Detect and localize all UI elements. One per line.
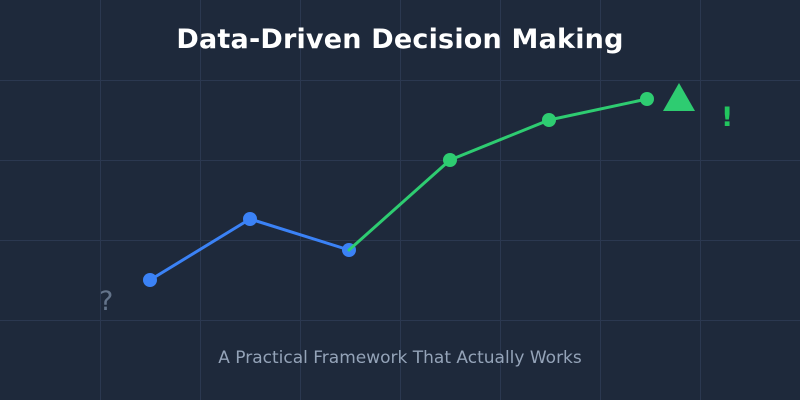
page-title: Data-Driven Decision Making bbox=[0, 24, 800, 55]
page-subtitle: A Practical Framework That Actually Work… bbox=[0, 348, 800, 368]
question-mark-icon: ? bbox=[99, 288, 113, 315]
series-after-line bbox=[349, 99, 647, 250]
series-before-line bbox=[150, 219, 349, 280]
up-triangle-icon bbox=[663, 83, 695, 111]
data-point[interactable] bbox=[640, 92, 654, 106]
line-chart bbox=[0, 0, 800, 400]
slide-canvas: Data-Driven Decision Making ? ! A Practi… bbox=[0, 0, 800, 400]
series-before bbox=[143, 212, 356, 287]
data-point[interactable] bbox=[542, 113, 556, 127]
data-point[interactable] bbox=[143, 273, 157, 287]
data-point[interactable] bbox=[443, 153, 457, 167]
series-after bbox=[349, 92, 654, 250]
data-point[interactable] bbox=[243, 212, 257, 226]
exclamation-mark-icon: ! bbox=[721, 104, 733, 131]
